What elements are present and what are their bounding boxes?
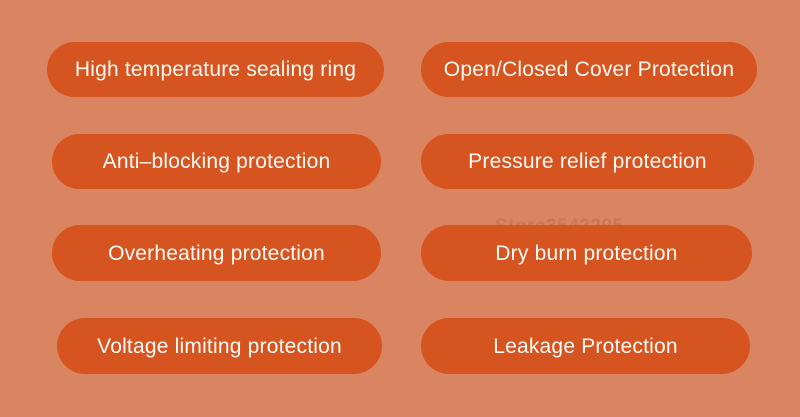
feature-pill-high-temperature-sealing-ring[interactable]: High temperature sealing ring [47,42,384,97]
feature-pill-overheating-protection[interactable]: Overheating protection [52,225,381,281]
feature-board: Store3542205 High temperature sealing ri… [0,0,800,417]
feature-pill-open-closed-cover-protection[interactable]: Open/Closed Cover Protection [421,42,757,97]
feature-pill-leakage-protection[interactable]: Leakage Protection [421,318,750,374]
feature-pill-dry-burn-protection[interactable]: Dry burn protection [421,225,752,281]
feature-pill-anti-blocking-protection[interactable]: Anti–blocking protection [52,134,381,189]
feature-pill-pressure-relief-protection[interactable]: Pressure relief protection [421,134,754,189]
feature-pill-voltage-limiting-protection[interactable]: Voltage limiting protection [57,318,382,374]
